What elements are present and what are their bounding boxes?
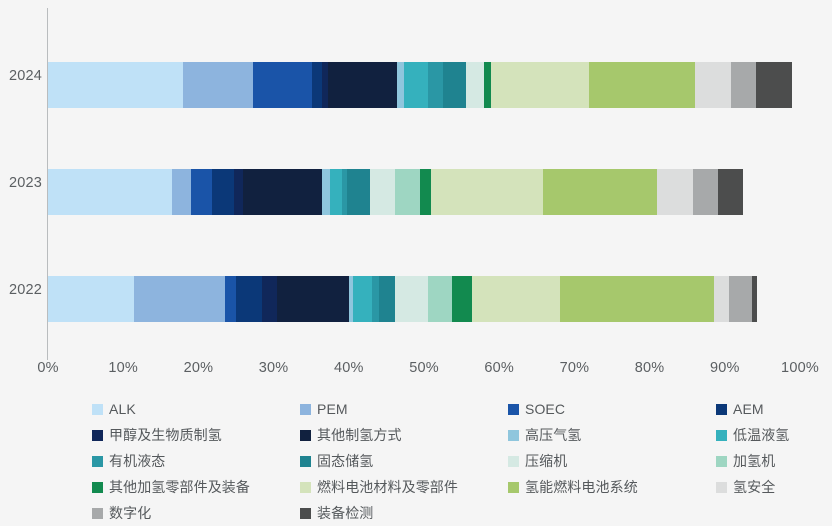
x-axis-tick: 60% bbox=[484, 360, 514, 376]
legend-swatch-icon bbox=[508, 482, 519, 493]
bar-segment[interactable] bbox=[428, 276, 452, 322]
bar-row-2022 bbox=[48, 276, 800, 322]
legend-swatch-icon bbox=[716, 482, 727, 493]
bar-segment[interactable] bbox=[48, 276, 134, 322]
x-axis-tick: 70% bbox=[560, 360, 590, 376]
bar-segment[interactable] bbox=[234, 169, 244, 215]
x-axis-tick: 40% bbox=[334, 360, 364, 376]
bar-segment[interactable] bbox=[714, 276, 729, 322]
legend-item[interactable]: 氢能燃料电池系统 bbox=[508, 477, 716, 497]
y-axis-tick-2023: 2023 bbox=[9, 175, 42, 191]
bar-segment[interactable] bbox=[312, 62, 322, 108]
legend-label: 加氢机 bbox=[733, 451, 775, 471]
legend-swatch-icon bbox=[300, 456, 311, 467]
legend-label: 低温液氢 bbox=[733, 425, 789, 445]
legend-item[interactable]: 氢安全 bbox=[716, 477, 832, 497]
legend-item[interactable]: 其他加氢零部件及装备 bbox=[92, 477, 300, 497]
legend-label: 甲醇及生物质制氢 bbox=[109, 425, 222, 445]
bar-segment[interactable] bbox=[718, 169, 743, 215]
legend-swatch-icon bbox=[300, 430, 311, 441]
legend-item[interactable]: 甲醇及生物质制氢 bbox=[92, 425, 300, 445]
bar-segment[interactable] bbox=[191, 169, 212, 215]
bar-segment[interactable] bbox=[262, 276, 277, 322]
legend-swatch-icon bbox=[716, 456, 727, 467]
bar-segment[interactable] bbox=[397, 62, 404, 108]
bar-segment[interactable] bbox=[466, 62, 484, 108]
x-axis-tick: 90% bbox=[710, 360, 740, 376]
bar-segment[interactable] bbox=[695, 62, 731, 108]
legend-item[interactable]: 数字化 bbox=[92, 503, 300, 523]
legend-swatch-icon bbox=[92, 404, 103, 415]
bar-segment[interactable] bbox=[693, 169, 718, 215]
bar-segment[interactable] bbox=[172, 169, 191, 215]
bar-segment[interactable] bbox=[395, 276, 427, 322]
legend-swatch-icon bbox=[508, 456, 519, 467]
bar-segment[interactable] bbox=[379, 276, 396, 322]
y-axis-tick-2024: 2024 bbox=[9, 68, 42, 84]
y-axis-tick-2022: 2022 bbox=[9, 282, 42, 298]
legend-item[interactable]: 装备检测 bbox=[300, 503, 508, 523]
bar-segment[interactable] bbox=[330, 169, 342, 215]
legend-swatch-icon bbox=[92, 430, 103, 441]
legend-item[interactable]: PEM bbox=[300, 401, 508, 417]
bar-segment[interactable] bbox=[134, 276, 224, 322]
bar-segment[interactable] bbox=[212, 169, 234, 215]
legend-label: PEM bbox=[317, 401, 348, 417]
bar-segment[interactable] bbox=[48, 169, 172, 215]
chart-legend: ALKPEMSOECAEM甲醇及生物质制氢其他制氢方式高压气氢低温液氢有机液态固… bbox=[92, 396, 792, 526]
bar-segment[interactable] bbox=[404, 62, 428, 108]
legend-swatch-icon bbox=[508, 430, 519, 441]
bar-row-2024 bbox=[48, 62, 800, 108]
bar-segment[interactable] bbox=[328, 62, 397, 108]
legend-label: 有机液态 bbox=[109, 451, 165, 471]
bar-segment[interactable] bbox=[183, 62, 253, 108]
legend-label: ALK bbox=[109, 401, 136, 417]
bar-segment[interactable] bbox=[353, 276, 373, 322]
plot-area bbox=[48, 8, 800, 348]
legend-item[interactable]: 其他制氢方式 bbox=[300, 425, 508, 445]
legend-swatch-icon bbox=[300, 508, 311, 519]
legend-swatch-icon bbox=[300, 482, 311, 493]
legend-item[interactable]: 有机液态 bbox=[92, 451, 300, 471]
bar-segment[interactable] bbox=[560, 276, 714, 322]
bar-segment[interactable] bbox=[236, 276, 262, 322]
legend-label: 装备检测 bbox=[317, 503, 373, 523]
bar-segment[interactable] bbox=[395, 169, 420, 215]
legend-swatch-icon bbox=[92, 456, 103, 467]
bar-segment[interactable] bbox=[443, 62, 466, 108]
legend-label: 其他制氢方式 bbox=[317, 425, 402, 445]
bar-segment[interactable] bbox=[372, 276, 379, 322]
legend-swatch-icon bbox=[92, 482, 103, 493]
x-axis-tick: 0% bbox=[37, 360, 58, 376]
bar-segment[interactable] bbox=[452, 276, 472, 322]
bar-segment[interactable] bbox=[420, 169, 431, 215]
bar-segment[interactable] bbox=[756, 62, 793, 108]
legend-item[interactable]: AEM bbox=[716, 401, 832, 417]
legend-item[interactable]: 燃料电池材料及零部件 bbox=[300, 477, 508, 497]
x-axis: 0%10%20%30%40%50%60%70%80%90%100% bbox=[0, 360, 832, 390]
legend-swatch-icon bbox=[508, 404, 519, 415]
bar-segment[interactable] bbox=[752, 276, 757, 322]
x-axis-tick: 50% bbox=[409, 360, 439, 376]
bar-segment[interactable] bbox=[589, 62, 696, 108]
x-axis-tick: 30% bbox=[259, 360, 289, 376]
bar-segment[interactable] bbox=[729, 276, 752, 322]
legend-label: 固态储氢 bbox=[317, 451, 373, 471]
legend-swatch-icon bbox=[716, 404, 727, 415]
legend-label: SOEC bbox=[525, 401, 565, 417]
x-axis-tick: 80% bbox=[635, 360, 665, 376]
bar-segment[interactable] bbox=[484, 62, 491, 108]
bar-segment[interactable] bbox=[491, 62, 589, 108]
bar-segment[interactable] bbox=[431, 169, 542, 215]
legend-label: 高压气氢 bbox=[525, 425, 581, 445]
legend-swatch-icon bbox=[716, 430, 727, 441]
bar-segment[interactable] bbox=[322, 169, 330, 215]
legend-item[interactable]: SOEC bbox=[508, 401, 716, 417]
bar-segment[interactable] bbox=[657, 169, 693, 215]
legend-label: AEM bbox=[733, 401, 764, 417]
bar-segment[interactable] bbox=[225, 276, 236, 322]
bar-row-2023 bbox=[48, 169, 800, 215]
legend-item[interactable]: ALK bbox=[92, 401, 300, 417]
bar-segment[interactable] bbox=[370, 169, 396, 215]
legend-item[interactable]: 高压气氢 bbox=[508, 425, 716, 445]
bar-segment[interactable] bbox=[277, 276, 349, 322]
bar-segment[interactable] bbox=[543, 169, 657, 215]
legend-label: 数字化 bbox=[109, 503, 151, 523]
bar-segment[interactable] bbox=[347, 169, 370, 215]
legend-item[interactable]: 固态储氢 bbox=[300, 451, 508, 471]
legend-label: 氢能燃料电池系统 bbox=[525, 477, 638, 497]
stacked-bar-chart: 0%10%20%30%40%50%60%70%80%90%100% ALKPEM… bbox=[0, 0, 832, 518]
legend-label: 氢安全 bbox=[733, 477, 775, 497]
x-axis-tick: 10% bbox=[108, 360, 138, 376]
legend-item[interactable]: 加氢机 bbox=[716, 451, 832, 471]
legend-swatch-icon bbox=[300, 404, 311, 415]
legend-item[interactable]: 低温液氢 bbox=[716, 425, 832, 445]
legend-item[interactable]: 压缩机 bbox=[508, 451, 716, 471]
bar-segment[interactable] bbox=[731, 62, 755, 108]
x-axis-tick: 20% bbox=[184, 360, 214, 376]
legend-swatch-icon bbox=[92, 508, 103, 519]
legend-label: 燃料电池材料及零部件 bbox=[317, 477, 458, 497]
bar-segment[interactable] bbox=[428, 62, 443, 108]
bar-segment[interactable] bbox=[472, 276, 560, 322]
bar-segment[interactable] bbox=[253, 62, 312, 108]
legend-label: 压缩机 bbox=[525, 451, 567, 471]
bar-segment[interactable] bbox=[243, 169, 321, 215]
bar-segment[interactable] bbox=[48, 62, 183, 108]
legend-label: 其他加氢零部件及装备 bbox=[109, 477, 250, 497]
x-axis-tick: 100% bbox=[781, 360, 819, 376]
